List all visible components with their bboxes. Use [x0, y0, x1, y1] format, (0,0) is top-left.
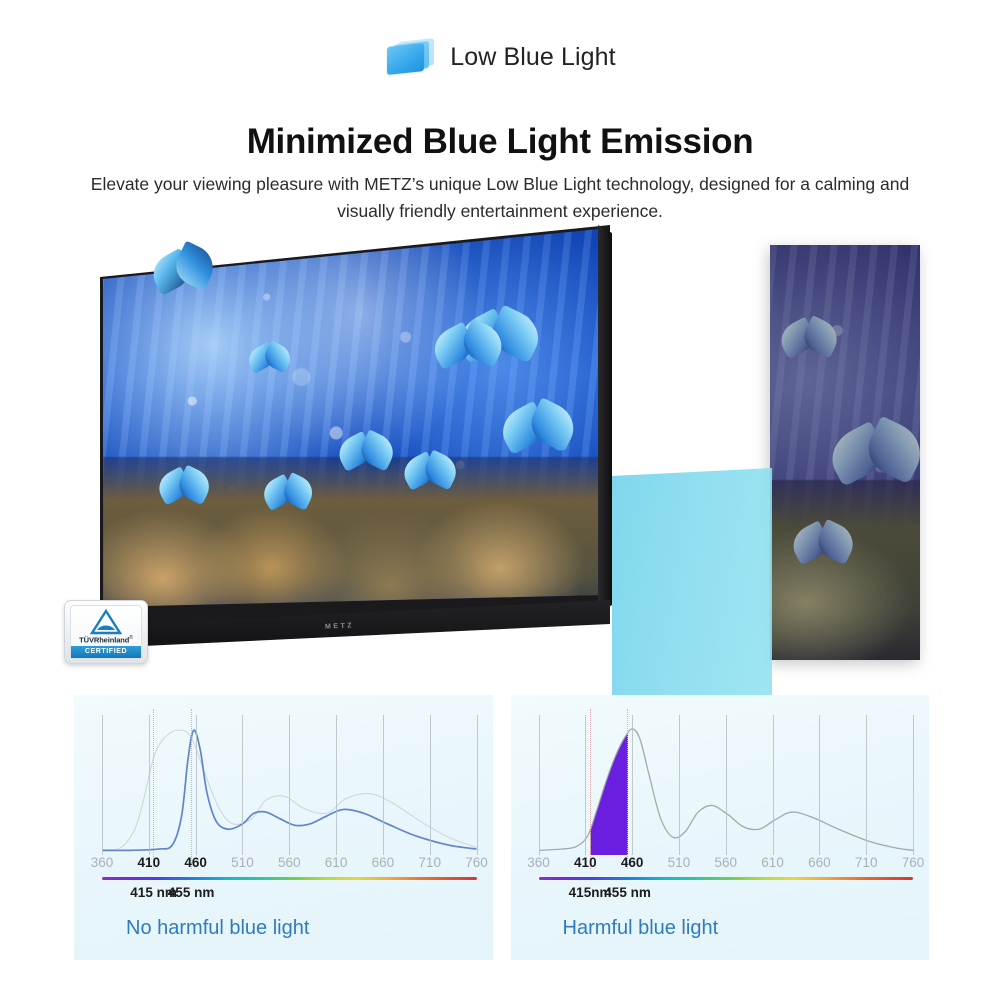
butterfly-icon	[338, 435, 394, 479]
chart-gridline	[632, 715, 633, 855]
chart-gridline	[819, 715, 820, 855]
x-axis-tick: 560	[278, 855, 301, 870]
x-axis-tick: 760	[465, 855, 488, 870]
chart-gridline	[679, 715, 680, 855]
x-axis-tick: 410	[138, 855, 161, 870]
chart-gridline	[196, 715, 197, 855]
page-title: Minimized Blue Light Emission	[0, 122, 1000, 162]
chart-gridline	[477, 715, 478, 855]
tuv-brand-text: TÜVRheinland®	[79, 636, 133, 644]
chart-gridline	[149, 715, 150, 855]
wavelength-annotation: 455 nm	[168, 885, 215, 900]
x-axis-tick: 610	[761, 855, 784, 870]
x-axis-tick: 760	[902, 855, 925, 870]
x-axis-tick: 460	[184, 855, 207, 870]
chart-gridline	[336, 715, 337, 855]
chart-annotation-line	[153, 709, 154, 869]
chart-gridline	[539, 715, 540, 855]
hero-product-illustration: METZ TÜVRheinland® CERTIFIED	[0, 225, 1000, 685]
x-axis-tick: 710	[418, 855, 441, 870]
screen-panels-icon	[384, 38, 436, 76]
chart-annotation-line	[191, 709, 192, 869]
butterfly-icon	[158, 470, 210, 512]
x-axis-tick: 360	[91, 855, 114, 870]
chart-card-harmful-blue-light: 360410460510560610660710760 415nm455 nm …	[511, 695, 930, 960]
butterfly-icon	[501, 405, 575, 461]
wavelength-annotation: 455 nm	[604, 885, 651, 900]
x-axis-tick: 410	[574, 855, 597, 870]
chart-plot-area-left	[102, 715, 477, 855]
chart-x-axis-left: 360410460510560610660710760	[102, 855, 477, 877]
chart-gridline	[866, 715, 867, 855]
tuv-triangle-icon	[90, 609, 122, 635]
chart-gridline	[289, 715, 290, 855]
x-axis-tick: 360	[527, 855, 550, 870]
x-axis-tick: 510	[668, 855, 691, 870]
chart-gridline	[726, 715, 727, 855]
filtered-scene-image	[770, 245, 920, 660]
chart-gridline	[242, 715, 243, 855]
tuv-certified-label: CERTIFIED	[71, 646, 141, 658]
tv-side-bezel	[598, 225, 612, 637]
chart-caption-left: No harmful blue light	[126, 917, 309, 940]
spectrum-bar-right	[539, 877, 914, 880]
tv-brand-logo: METZ	[325, 622, 354, 630]
chart-gridline	[585, 715, 586, 855]
filtered-screen-panel	[770, 245, 920, 660]
butterfly-icon	[830, 425, 920, 495]
spectrum-comparison-charts: 360410460510560610660710760 415 nm455 nm…	[74, 695, 929, 960]
chart-gridline	[102, 715, 103, 855]
chart-gridline	[430, 715, 431, 855]
chart-x-axis-right: 360410460510560610660710760	[539, 855, 914, 877]
chart-caption-right: Harmful blue light	[563, 917, 719, 940]
spectrum-bar-left	[102, 877, 477, 880]
x-axis-tick: 660	[808, 855, 831, 870]
feature-badge: Low Blue Light	[0, 38, 1000, 76]
butterfly-icon	[248, 345, 290, 379]
x-axis-tick: 610	[325, 855, 348, 870]
chart-gridline	[383, 715, 384, 855]
chart-gridline	[913, 715, 914, 855]
butterfly-icon	[792, 525, 854, 573]
butterfly-icon	[152, 247, 214, 299]
chart-plot-area-right	[539, 715, 914, 855]
x-axis-tick: 460	[621, 855, 644, 870]
low-blue-light-feature-page: Low Blue Light Minimized Blue Light Emis…	[0, 0, 1000, 1000]
feature-badge-label: Low Blue Light	[450, 45, 615, 70]
tv-unit: METZ	[100, 225, 610, 665]
x-axis-tick: 710	[855, 855, 878, 870]
chart-annotation-line	[590, 709, 591, 869]
chart-annotation-line	[627, 709, 628, 869]
butterfly-icon	[403, 455, 457, 497]
butterfly-icon	[263, 477, 313, 517]
tuv-rheinland-badge: TÜVRheinland® CERTIFIED	[64, 600, 148, 664]
butterfly-icon	[780, 321, 840, 367]
chart-card-no-harmful-blue-light: 360410460510560610660710760 415 nm455 nm…	[74, 695, 493, 960]
butterfly-icon	[433, 325, 503, 377]
page-description: Elevate your viewing pleasure with METZ’…	[60, 171, 940, 225]
x-axis-tick: 660	[372, 855, 395, 870]
x-axis-tick: 510	[231, 855, 254, 870]
chart-gridline	[773, 715, 774, 855]
x-axis-tick: 560	[714, 855, 737, 870]
